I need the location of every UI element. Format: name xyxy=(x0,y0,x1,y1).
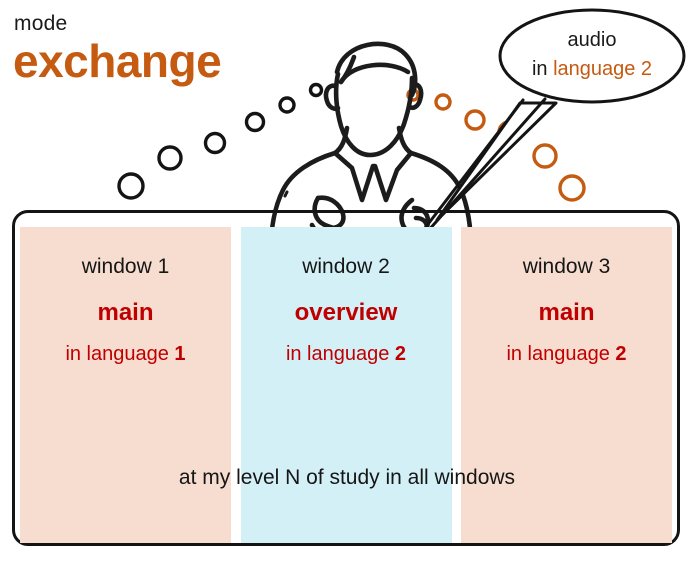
window-1-lang-number: 1 xyxy=(174,343,185,365)
window-2-lang-number: 2 xyxy=(395,343,406,365)
bubble-line2-highlight: language 2 xyxy=(553,58,652,80)
window-1-title: window 1 xyxy=(20,255,231,279)
window-1-lang-prefix: in language xyxy=(65,343,174,365)
window-2-lang-prefix: in language xyxy=(286,343,395,365)
window-3-mode: main xyxy=(461,299,672,327)
bubble-line-audio: audio xyxy=(499,28,685,52)
window-column-2[interactable]: window 2 overview in language 2 xyxy=(241,227,452,543)
window-2-language: in language 2 xyxy=(241,343,452,366)
window-1-mode: main xyxy=(20,299,231,327)
diagram-canvas: mode exchange xyxy=(0,0,694,564)
window-column-3[interactable]: window 3 main in language 2 xyxy=(461,227,672,543)
thought-circles-black-icon xyxy=(119,85,322,199)
window-column-1[interactable]: window 1 main in language 1 xyxy=(20,227,231,543)
mode-name-exchange: exchange xyxy=(13,38,221,84)
bubble-line2-prefix: in xyxy=(532,58,553,80)
window-3-lang-prefix: in language xyxy=(506,343,615,365)
window-3-title: window 3 xyxy=(461,255,672,279)
window-1-language: in language 1 xyxy=(20,343,231,366)
window-3-lang-number: 2 xyxy=(615,343,626,365)
window-3-language: in language 2 xyxy=(461,343,672,366)
window-2-title: window 2 xyxy=(241,255,452,279)
footer-note: at my level N of study in all windows xyxy=(0,466,694,490)
bubble-line-language: in language 2 xyxy=(499,57,685,81)
thought-circles-orange-icon xyxy=(408,90,584,200)
window-2-mode: overview xyxy=(241,299,452,327)
mode-label: mode xyxy=(14,12,67,36)
windows-columns: window 1 main in language 1 window 2 ove… xyxy=(20,227,672,543)
